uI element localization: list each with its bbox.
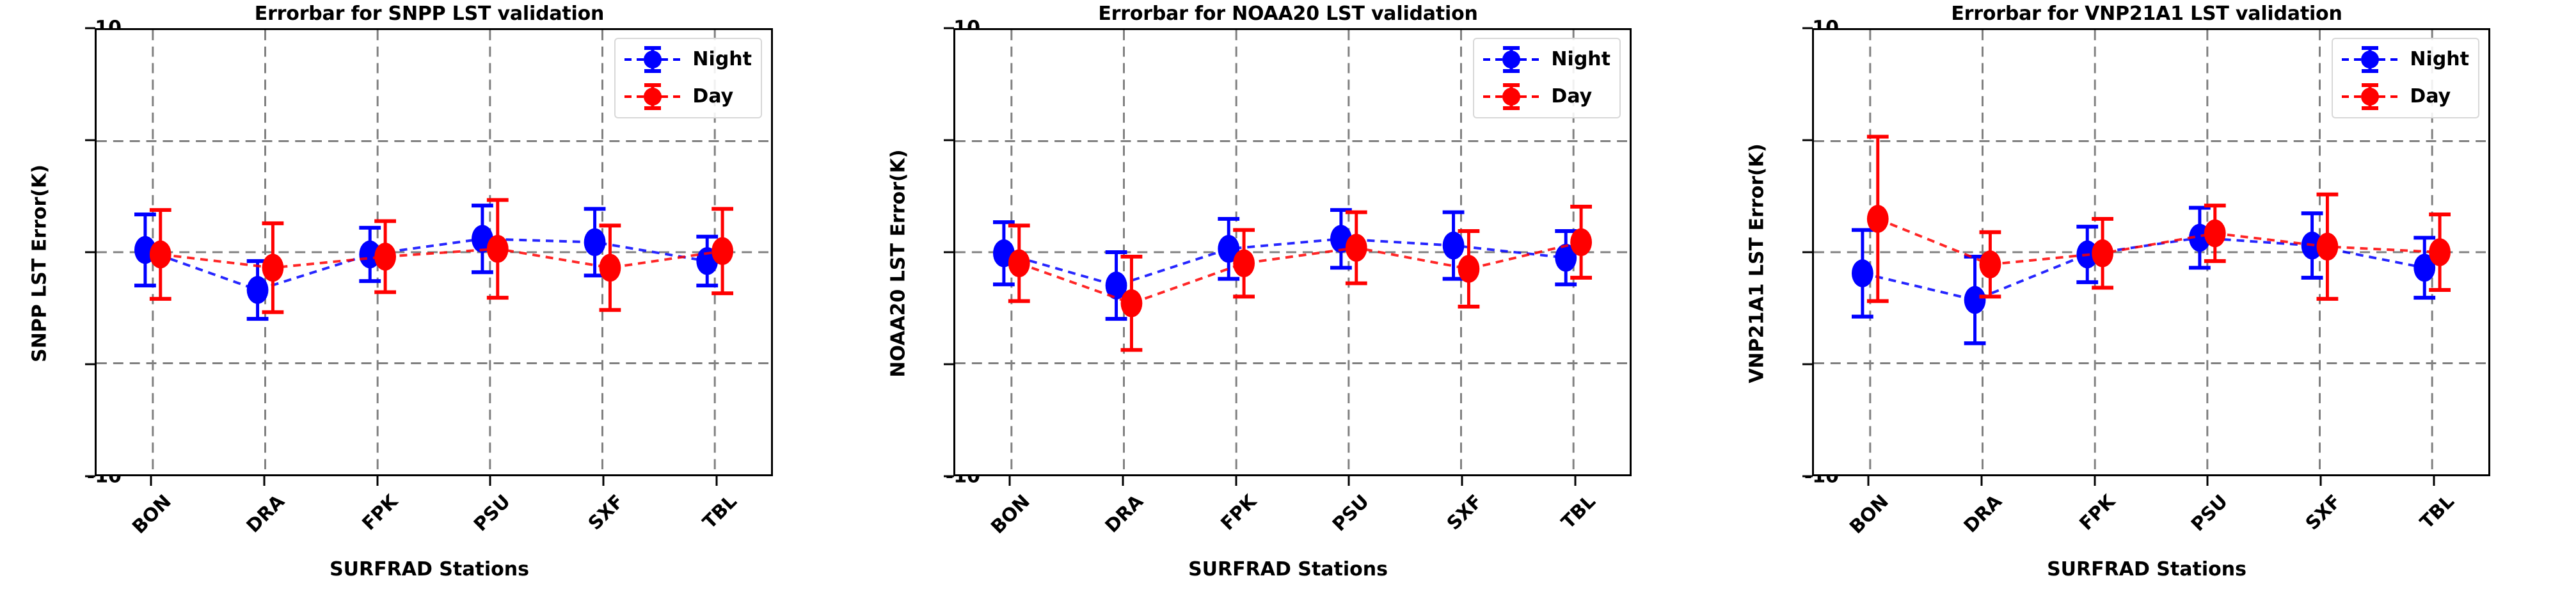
- y-tick-mark: [85, 364, 95, 365]
- data-point: [1867, 205, 1889, 233]
- data-point: [1121, 289, 1143, 317]
- legend-entry-night[interactable]: Night: [622, 44, 752, 75]
- y-tick-mark: [944, 140, 954, 141]
- data-point: [2092, 239, 2113, 268]
- panel-noaa20: Errorbar for NOAA20 LST validationNOAA20…: [859, 0, 1717, 594]
- plot-area: NightDay: [953, 28, 1632, 476]
- data-point: [584, 229, 606, 257]
- legend-marker-icon: [2339, 81, 2401, 112]
- series-night: [1852, 208, 2435, 344]
- errorbar-figure: Errorbar for SNPP LST validationSNPP LST…: [0, 0, 2576, 594]
- plot-area: NightDay: [1812, 28, 2490, 476]
- y-axis-title: NOAA20 LST Error(K): [887, 59, 910, 469]
- legend-marker-icon: [1481, 44, 1542, 75]
- x-tick-mark: [2207, 476, 2209, 486]
- legend-label: Day: [2410, 87, 2451, 106]
- data-point: [1443, 232, 1465, 260]
- x-tick-label-tbl: TBL: [1557, 490, 1600, 533]
- x-tick-label-sxf: SXF: [1442, 490, 1486, 534]
- x-tick-label-sxf: SXF: [584, 490, 628, 534]
- series-line: [1878, 219, 2440, 264]
- x-axis-title: SURFRAD Stations: [1717, 558, 2576, 581]
- legend-entry-night[interactable]: Night: [2339, 44, 2469, 75]
- data-point: [247, 276, 269, 304]
- x-tick-mark: [489, 476, 491, 486]
- x-tick-label-dra: DRA: [1959, 490, 2006, 537]
- legend-marker-icon: [622, 81, 683, 112]
- legend-marker-icon: [2339, 44, 2401, 75]
- data-point: [1008, 250, 1030, 278]
- data-point: [1346, 234, 1367, 262]
- x-tick-mark: [1868, 476, 1870, 486]
- y-tick-mark: [85, 476, 95, 478]
- x-tick-mark: [1981, 476, 1983, 486]
- x-tick-mark: [376, 476, 378, 486]
- series-day: [150, 200, 733, 312]
- y-tick-mark: [85, 252, 95, 253]
- data-point: [150, 241, 171, 269]
- x-tick-label-sxf: SXF: [2301, 490, 2345, 534]
- legend: NightDay: [614, 38, 762, 118]
- panel-snpp: Errorbar for SNPP LST validationSNPP LST…: [0, 0, 859, 594]
- series-line: [145, 239, 707, 290]
- x-tick-label-bon: BON: [1845, 490, 1893, 538]
- x-tick-label-tbl: TBL: [698, 490, 741, 533]
- data-point: [1458, 255, 1480, 283]
- y-tick-mark: [1802, 252, 1813, 253]
- x-tick-label-fpk: FPK: [1216, 490, 1260, 534]
- y-tick-mark: [944, 364, 954, 365]
- series-day: [1008, 207, 1592, 350]
- data-point: [1980, 250, 2001, 278]
- data-point: [600, 253, 621, 282]
- legend-label: Night: [692, 50, 752, 69]
- y-tick-mark: [85, 140, 95, 141]
- y-axis-title: VNP21A1 LST Error(K): [1746, 59, 1769, 469]
- x-tick-mark: [2094, 476, 2095, 486]
- legend-marker-icon: [622, 44, 683, 75]
- legend: NightDay: [2332, 38, 2479, 118]
- y-axis-title: SNPP LST Error(K): [29, 59, 51, 469]
- x-tick-mark: [1461, 476, 1463, 486]
- x-tick-mark: [2320, 476, 2322, 486]
- series-line: [161, 249, 722, 268]
- x-tick-mark: [1009, 476, 1011, 486]
- x-tick-label-dra: DRA: [242, 490, 289, 537]
- x-tick-mark: [603, 476, 605, 486]
- data-point: [2204, 220, 2226, 248]
- panel-title: Errorbar for SNPP LST validation: [0, 3, 859, 25]
- x-axis-title: SURFRAD Stations: [859, 558, 1717, 581]
- y-tick-mark: [1802, 364, 1813, 365]
- data-point: [1852, 259, 1873, 287]
- x-tick-mark: [2433, 476, 2435, 486]
- legend-label: Night: [2410, 50, 2469, 69]
- x-tick-label-psu: PSU: [1328, 490, 1374, 536]
- x-tick-mark: [150, 476, 152, 486]
- legend-label: Day: [1551, 87, 1592, 106]
- data-point: [262, 253, 284, 282]
- y-tick-mark: [944, 252, 954, 253]
- x-tick-mark: [1574, 476, 1576, 486]
- x-tick-mark: [264, 476, 266, 486]
- x-axis-title: SURFRAD Stations: [0, 558, 859, 581]
- legend: NightDay: [1473, 38, 1621, 118]
- x-tick-label-fpk: FPK: [2075, 490, 2119, 534]
- series-line: [1004, 239, 1566, 285]
- data-point: [1233, 250, 1255, 278]
- x-tick-label-bon: BON: [987, 490, 1034, 538]
- data-point: [2429, 238, 2451, 266]
- data-point: [487, 235, 509, 263]
- plot-area: NightDay: [95, 28, 773, 476]
- x-tick-mark: [1235, 476, 1237, 486]
- data-point: [1570, 229, 1592, 257]
- legend-marker-icon: [1481, 81, 1542, 112]
- series-day: [1867, 137, 2451, 301]
- y-tick-mark: [1802, 28, 1813, 29]
- x-tick-mark: [715, 476, 717, 486]
- x-tick-label-dra: DRA: [1101, 490, 1147, 537]
- legend-label: Day: [692, 87, 733, 106]
- y-tick-mark: [85, 28, 95, 29]
- legend-entry-night[interactable]: Night: [1481, 44, 1610, 75]
- y-tick-mark: [944, 28, 954, 29]
- y-tick-mark: [1802, 140, 1813, 141]
- series-night: [134, 205, 718, 319]
- y-tick-mark: [944, 476, 954, 478]
- legend-entry-day[interactable]: Day: [1481, 81, 1610, 112]
- x-tick-label-tbl: TBL: [2415, 490, 2458, 533]
- legend-entry-day[interactable]: Day: [622, 81, 752, 112]
- x-tick-label-fpk: FPK: [358, 490, 402, 534]
- y-tick-mark: [1802, 476, 1813, 478]
- panel-vnp21a1: Errorbar for VNP21A1 LST validationVNP21…: [1717, 0, 2576, 594]
- panel-title: Errorbar for NOAA20 LST validation: [859, 3, 1717, 25]
- data-point: [374, 243, 396, 271]
- x-tick-mark: [1122, 476, 1124, 486]
- x-tick-label-bon: BON: [128, 490, 175, 538]
- data-point: [1964, 286, 1986, 314]
- data-point: [2317, 233, 2339, 261]
- x-tick-label-psu: PSU: [470, 490, 515, 536]
- panel-title: Errorbar for VNP21A1 LST validation: [1717, 3, 2576, 25]
- legend-label: Night: [1551, 50, 1610, 69]
- data-point: [712, 237, 733, 265]
- series-line: [1019, 242, 1581, 303]
- legend-entry-day[interactable]: Day: [2339, 81, 2469, 112]
- x-tick-mark: [1348, 476, 1350, 486]
- x-tick-label-psu: PSU: [2187, 490, 2232, 536]
